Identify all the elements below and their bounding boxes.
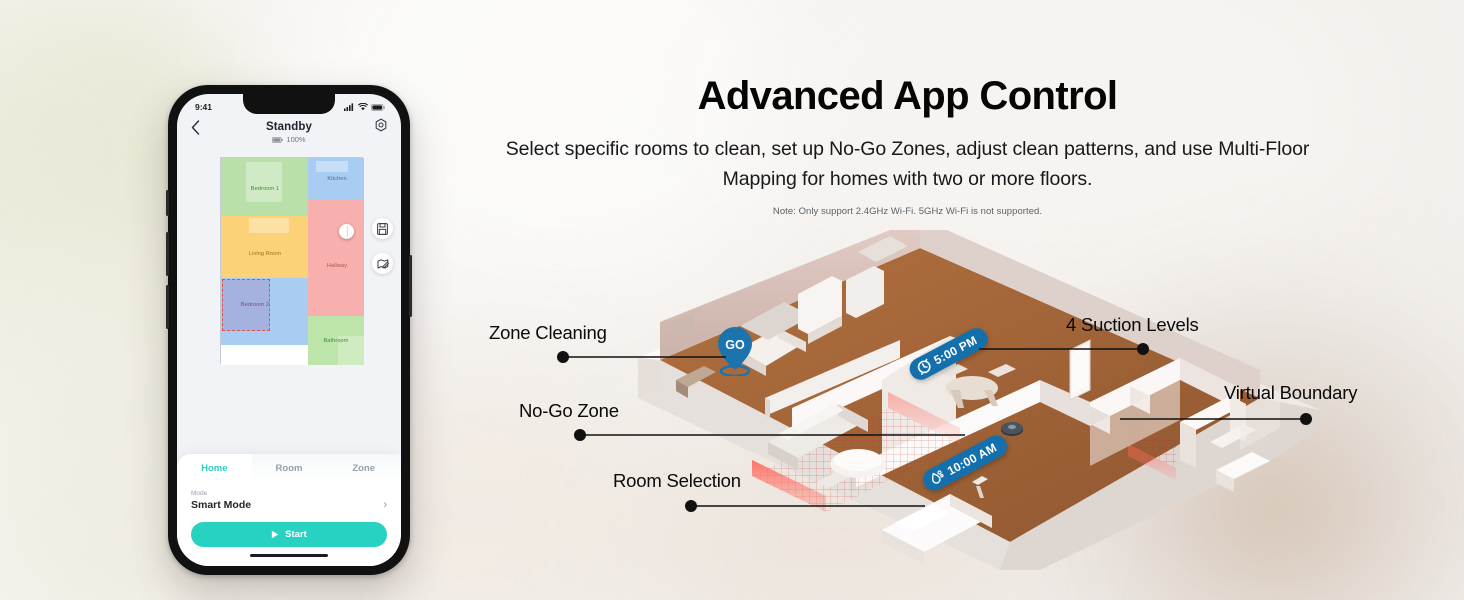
mode-value: Smart Mode (191, 499, 251, 511)
map-room-label: Living Room (249, 251, 281, 257)
robot-vacuum-marker[interactable] (339, 224, 354, 239)
floor-plan-icon (377, 223, 388, 235)
mop-water-icon (928, 468, 947, 487)
back-button[interactable] (191, 120, 200, 137)
cellular-bars-icon (344, 103, 355, 111)
phone-notch (243, 94, 335, 114)
go-pin-label: GO (725, 338, 745, 352)
settings-button[interactable] (373, 118, 389, 139)
map-room-label: Kitchen (327, 176, 346, 182)
bottom-sheet: Home Room Zone Mode Smart Mode › Start (177, 454, 401, 566)
callout-zone-cleaning: Zone Cleaning (489, 322, 607, 344)
map-room-label: Bedroom 1 (251, 186, 279, 192)
battery-status: 100% (177, 135, 401, 144)
callout-room-selection: Room Selection (613, 470, 741, 492)
page-title: Standby (177, 121, 401, 133)
map-room-hallway[interactable] (308, 200, 364, 316)
map-room-label: Bathroom (323, 338, 348, 344)
headline-subtitle: Select specific rooms to clean, set up N… (500, 135, 1315, 194)
floorplan-3d-illustration: GO (620, 230, 1340, 590)
home-indicator (250, 554, 328, 557)
phone-screen: 9:41 (177, 94, 401, 566)
start-button-label: Start (285, 529, 307, 540)
mode-row[interactable]: Smart Mode › (191, 499, 387, 511)
battery-icon (272, 137, 283, 143)
status-time: 9:41 (195, 102, 212, 112)
headline-block: Advanced App Control Select specific roo… (500, 74, 1315, 217)
headline-note: Note: Only support 2.4GHz Wi-Fi. 5GHz Wi… (500, 206, 1315, 217)
gear-icon (373, 118, 389, 134)
map-room-label: Hallway (327, 263, 347, 269)
mode-label: Mode (191, 490, 387, 497)
go-pin-marker[interactable]: GO (716, 326, 754, 376)
play-icon (271, 530, 279, 539)
chevron-right-icon: › (383, 499, 387, 511)
battery-percent: 100% (286, 135, 305, 144)
floor-map[interactable]: Bedroom 1 Kitchen Living Room Hallway Ba… (220, 157, 363, 364)
map-room-label: Bedroom 2 (241, 302, 269, 308)
multi-floor-map-button[interactable] (372, 218, 393, 239)
edit-map-icon (377, 258, 389, 270)
callout-no-go-zone: No-Go Zone (519, 400, 619, 422)
headline-title: Advanced App Control (500, 74, 1315, 119)
start-button[interactable]: Start (191, 522, 387, 547)
map-room-shade (249, 218, 289, 233)
battery-icon (371, 104, 385, 111)
wifi-icon (358, 103, 368, 111)
schedule-clock-icon (915, 357, 934, 376)
app-navbar: Standby 100% (177, 112, 401, 150)
tab-home[interactable]: Home (177, 454, 252, 482)
map-room-shade (246, 162, 282, 202)
callout-suction-levels: 4 Suction Levels (1066, 314, 1199, 336)
callout-virtual-boundary: Virtual Boundary (1224, 382, 1357, 404)
tab-bar: Home Room Zone (177, 454, 401, 482)
map-room-shade (316, 161, 348, 172)
chevron-left-icon (191, 120, 200, 135)
phone-mockup: 9:41 (168, 85, 410, 575)
tab-zone[interactable]: Zone (326, 454, 401, 482)
map-unmapped-area (221, 345, 308, 365)
map-area[interactable]: Bedroom 1 Kitchen Living Room Hallway Ba… (177, 150, 401, 454)
edit-map-button[interactable] (372, 253, 393, 274)
tab-room[interactable]: Room (252, 454, 327, 482)
